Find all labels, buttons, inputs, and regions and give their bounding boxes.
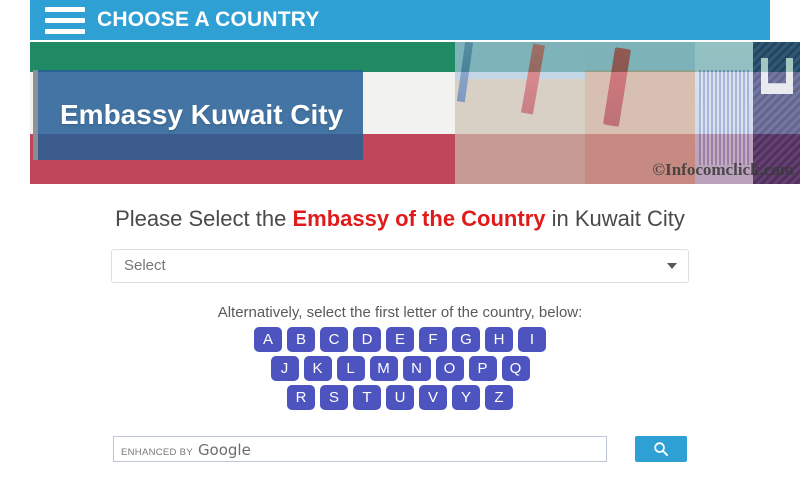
letter-button-l[interactable]: L [337, 356, 365, 381]
letter-button-e[interactable]: E [386, 327, 414, 352]
letter-button-i[interactable]: I [518, 327, 546, 352]
letter-button-h[interactable]: H [485, 327, 513, 352]
letter-button-m[interactable]: M [370, 356, 398, 381]
letter-button-g[interactable]: G [452, 327, 480, 352]
country-select[interactable]: Select [111, 249, 689, 283]
letter-button-n[interactable]: N [403, 356, 431, 381]
heading-suffix: in Kuwait City [546, 206, 685, 231]
alternative-instruction: Alternatively, select the first letter o… [30, 304, 770, 321]
letter-button-u[interactable]: U [386, 385, 414, 410]
hamburger-bar [45, 29, 85, 34]
page-title: CHOOSE A COUNTRY [97, 8, 320, 32]
banner-title-box: Embassy Kuwait City [33, 70, 363, 160]
site-header: CHOOSE A COUNTRY [30, 0, 770, 40]
letter-button-c[interactable]: C [320, 327, 348, 352]
letter-button-r[interactable]: R [287, 385, 315, 410]
country-select-value: Select [124, 257, 166, 274]
letter-button-t[interactable]: T [353, 385, 381, 410]
letter-button-y[interactable]: Y [452, 385, 480, 410]
hamburger-menu-icon[interactable] [45, 3, 85, 37]
letter-button-a[interactable]: A [254, 327, 282, 352]
letter-button-k[interactable]: K [304, 356, 332, 381]
letter-button-d[interactable]: D [353, 327, 381, 352]
search-box[interactable]: ENHANCED BY Google [113, 436, 607, 462]
page-root: CHOOSE A COUNTRY Embassy Kuwait City ©In… [0, 0, 800, 480]
chevron-down-icon [667, 263, 677, 269]
hamburger-bar [45, 7, 85, 12]
google-search-area: ENHANCED BY Google [30, 436, 770, 462]
letter-button-b[interactable]: B [287, 327, 315, 352]
letter-button-j[interactable]: J [271, 356, 299, 381]
search-icon [653, 441, 669, 457]
watermark: ©Infocomclick.com [652, 160, 794, 180]
letter-button-f[interactable]: F [419, 327, 447, 352]
select-heading: Please Select the Embassy of the Country… [30, 206, 770, 232]
letter-row-1: A B C D E F G H I [30, 327, 770, 352]
heading-prefix: Please Select the [115, 206, 292, 231]
search-button[interactable] [635, 436, 687, 462]
letter-button-p[interactable]: P [469, 356, 497, 381]
letter-button-q[interactable]: Q [502, 356, 530, 381]
hamburger-bar [45, 18, 85, 23]
letter-button-grid: A B C D E F G H I J K L M N O P Q R [30, 327, 770, 410]
letter-row-3: R S T U V Y Z [30, 385, 770, 410]
banner-title: Embassy Kuwait City [60, 99, 343, 131]
letter-row-2: J K L M N O P Q [30, 356, 770, 381]
letter-button-z[interactable]: Z [485, 385, 513, 410]
search-input[interactable] [115, 438, 605, 460]
letter-button-o[interactable]: O [436, 356, 464, 381]
heading-accent: Embassy of the Country [292, 206, 545, 231]
main-content: Please Select the Embassy of the Country… [30, 184, 770, 462]
letter-button-v[interactable]: V [419, 385, 447, 410]
hero-banner: Embassy Kuwait City ©Infocomclick.com [30, 42, 800, 184]
letter-button-s[interactable]: S [320, 385, 348, 410]
